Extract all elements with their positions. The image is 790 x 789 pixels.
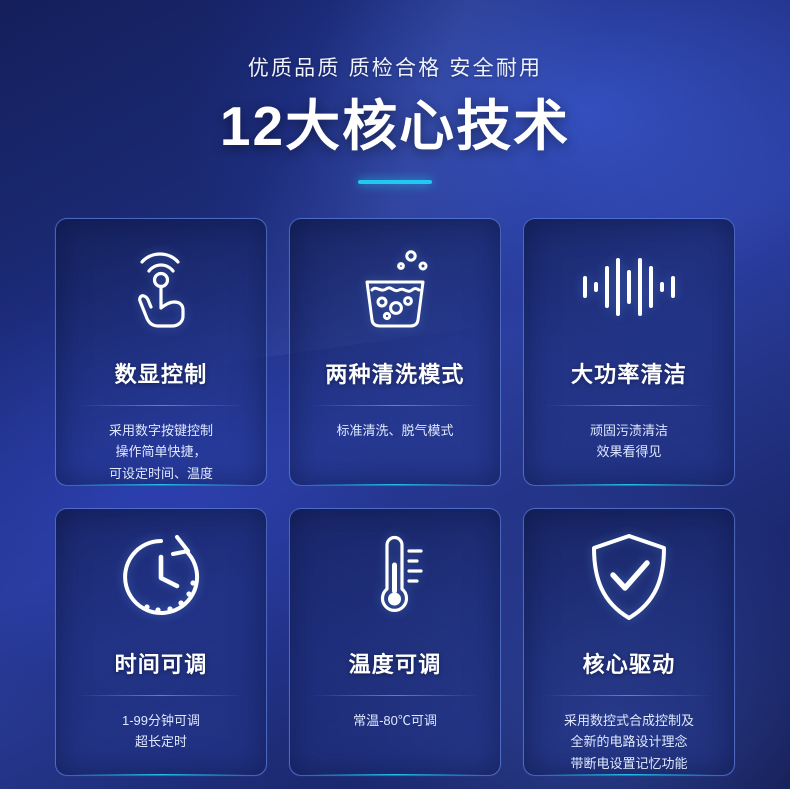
card-divider [545, 695, 713, 696]
feature-card-desc: 顽固污渍清洁 效果看得见 [576, 420, 682, 463]
hand-tap-digital-display-icon [56, 219, 266, 355]
desc-line: 可设定时间、温度 [109, 463, 213, 484]
clock-timer-icon [56, 509, 266, 645]
sound-wave-power-icon [524, 219, 734, 355]
desc-line: 效果看得见 [590, 441, 668, 462]
desc-line: 常温-80℃可调 [353, 710, 437, 731]
feature-card: 时间可调 1-99分钟可调 超长定时 [55, 508, 267, 776]
desc-line: 超长定时 [122, 731, 200, 752]
feature-card-desc: 常温-80℃可调 [339, 710, 451, 731]
feature-card-title: 时间可调 [115, 647, 208, 679]
desc-line: 1-99分钟可调 [122, 710, 200, 731]
feature-card-desc: 采用数控式合成控制及 全新的电路设计理念 带断电设置记忆功能 [550, 710, 708, 774]
poster-header: 优质品质 质检合格 安全耐用 12大核心技术 [0, 0, 790, 184]
desc-line: 采用数字按键控制 [109, 420, 213, 441]
feature-card-desc: 1-99分钟可调 超长定时 [108, 710, 214, 753]
feature-card: 核心驱动 采用数控式合成控制及 全新的电路设计理念 带断电设置记忆功能 [523, 508, 735, 776]
card-divider [311, 405, 479, 406]
desc-line: 操作简单快捷， [109, 441, 213, 462]
desc-line: 全新的电路设计理念 [564, 731, 694, 752]
feature-card-title: 温度可调 [349, 647, 442, 679]
card-divider [77, 695, 245, 696]
feature-card: 温度可调 常温-80℃可调 [289, 508, 501, 776]
desc-line: 带断电设置记忆功能 [564, 753, 694, 774]
wash-basin-bubbles-icon [290, 219, 500, 355]
desc-line: 标准清洗、脱气模式 [336, 420, 453, 441]
desc-line: 采用数控式合成控制及 [564, 710, 694, 731]
card-divider [545, 405, 713, 406]
poster-subtitle: 优质品质 质检合格 安全耐用 [0, 52, 790, 82]
feature-card-title: 大功率清洁 [571, 357, 687, 389]
desc-line: 顽固污渍清洁 [590, 420, 668, 441]
feature-card-title: 两种清洗模式 [325, 357, 464, 389]
promo-poster: 优质品质 质检合格 安全耐用 12大核心技术 数显控制 采用数字按键控制 操作简… [0, 0, 790, 789]
feature-card: 数显控制 采用数字按键控制 操作简单快捷， 可设定时间、温度 [55, 218, 267, 486]
thermometer-icon [290, 509, 500, 645]
feature-card-title: 核心驱动 [583, 647, 676, 679]
card-divider [311, 695, 479, 696]
card-divider [77, 405, 245, 406]
feature-card: 大功率清洁 顽固污渍清洁 效果看得见 [523, 218, 735, 486]
feature-card-title: 数显控制 [115, 357, 208, 389]
feature-card-desc: 标准清洗、脱气模式 [322, 420, 467, 441]
shield-check-icon [524, 509, 734, 645]
feature-card-grid: 数显控制 采用数字按键控制 操作简单快捷， 可设定时间、温度 [55, 218, 735, 776]
feature-card: 两种清洗模式 标准清洗、脱气模式 [289, 218, 501, 486]
feature-card-desc: 采用数字按键控制 操作简单快捷， 可设定时间、温度 [95, 420, 227, 484]
poster-title: 12大核心技术 [0, 98, 790, 156]
title-underline-accent [358, 180, 432, 184]
